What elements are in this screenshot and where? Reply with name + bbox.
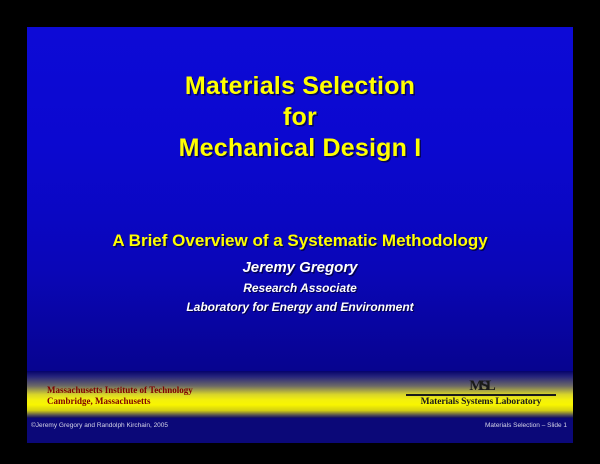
subtitle-block: A Brief Overview of a Systematic Methodo… [27,230,573,317]
slide-number-label: Materials Selection – Slide 1 [485,421,567,430]
slide-canvas: Materials Selection for Mechanical Desig… [0,0,600,464]
author-role: Research Associate [27,279,573,298]
msl-divider-rule [406,394,556,396]
msl-lab-name: Materials Systems Laboratory [406,397,556,408]
presentation-slide: Materials Selection for Mechanical Desig… [27,27,573,443]
copyright-notice: ©Jeremy Gregory and Randolph Kirchain, 2… [31,421,168,430]
title-line-1: Materials Selection [27,71,573,102]
msl-logo: MSL Materials Systems Laboratory [406,379,556,408]
institution-block: Massachusetts Institute of Technology Ca… [47,385,193,407]
footer-band: Massachusetts Institute of Technology Ca… [27,371,573,418]
title-line-3: Mechanical Design I [27,133,573,164]
status-strip: ©Jeremy Gregory and Randolph Kirchain, 2… [27,418,573,443]
subtitle-text: A Brief Overview of a Systematic Methodo… [27,230,573,252]
institution-line-2: Cambridge, Massachusetts [47,396,193,407]
msl-monogram-icon: MSL [406,379,556,393]
author-affiliation: Laboratory for Energy and Environment [27,298,573,317]
footer-inner: Massachusetts Institute of Technology Ca… [27,371,573,418]
author-name: Jeremy Gregory [27,257,573,279]
title-block: Materials Selection for Mechanical Desig… [27,71,573,164]
title-line-2: for [27,102,573,133]
institution-line-1: Massachusetts Institute of Technology [47,385,193,396]
